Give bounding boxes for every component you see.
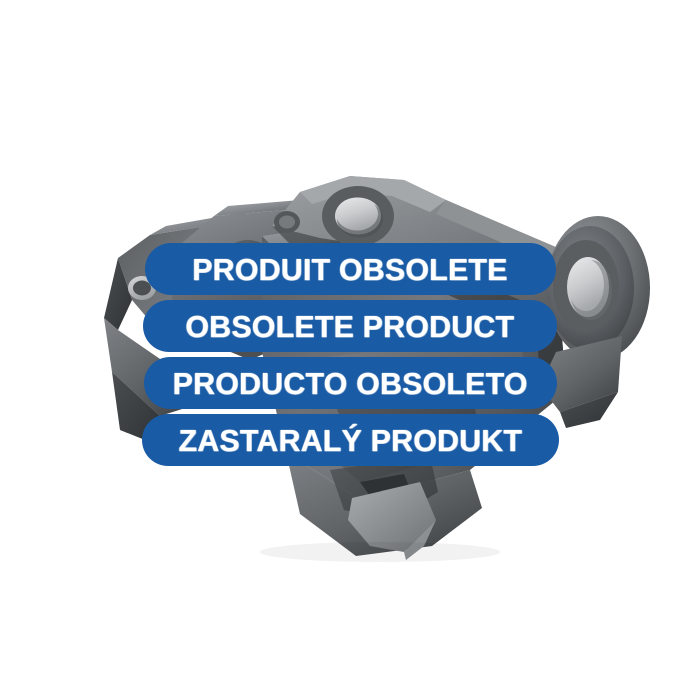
obsolete-banner-stack: PRODUIT OBSOLETE OBSOLETE PRODUCT PRODUC… [0, 243, 700, 473]
obsolete-banner-fr: PRODUIT OBSOLETE [145, 243, 556, 295]
obsolete-banner-es: PRODUCTO OBSOLETO [144, 357, 557, 409]
product-obsolete-image: PRODUIT OBSOLETE OBSOLETE PRODUCT PRODUC… [0, 0, 700, 700]
obsolete-banner-label-es: PRODUCTO OBSOLETO [172, 368, 527, 399]
obsolete-banner-cs: ZASTARALÝ PRODUKT [142, 414, 559, 466]
obsolete-banner-label-fr: PRODUIT OBSOLETE [192, 254, 507, 285]
obsolete-banner-en: OBSOLETE PRODUCT [143, 300, 557, 352]
obsolete-banner-label-en: OBSOLETE PRODUCT [186, 311, 515, 342]
obsolete-banner-label-cs: ZASTARALÝ PRODUKT [178, 425, 522, 456]
